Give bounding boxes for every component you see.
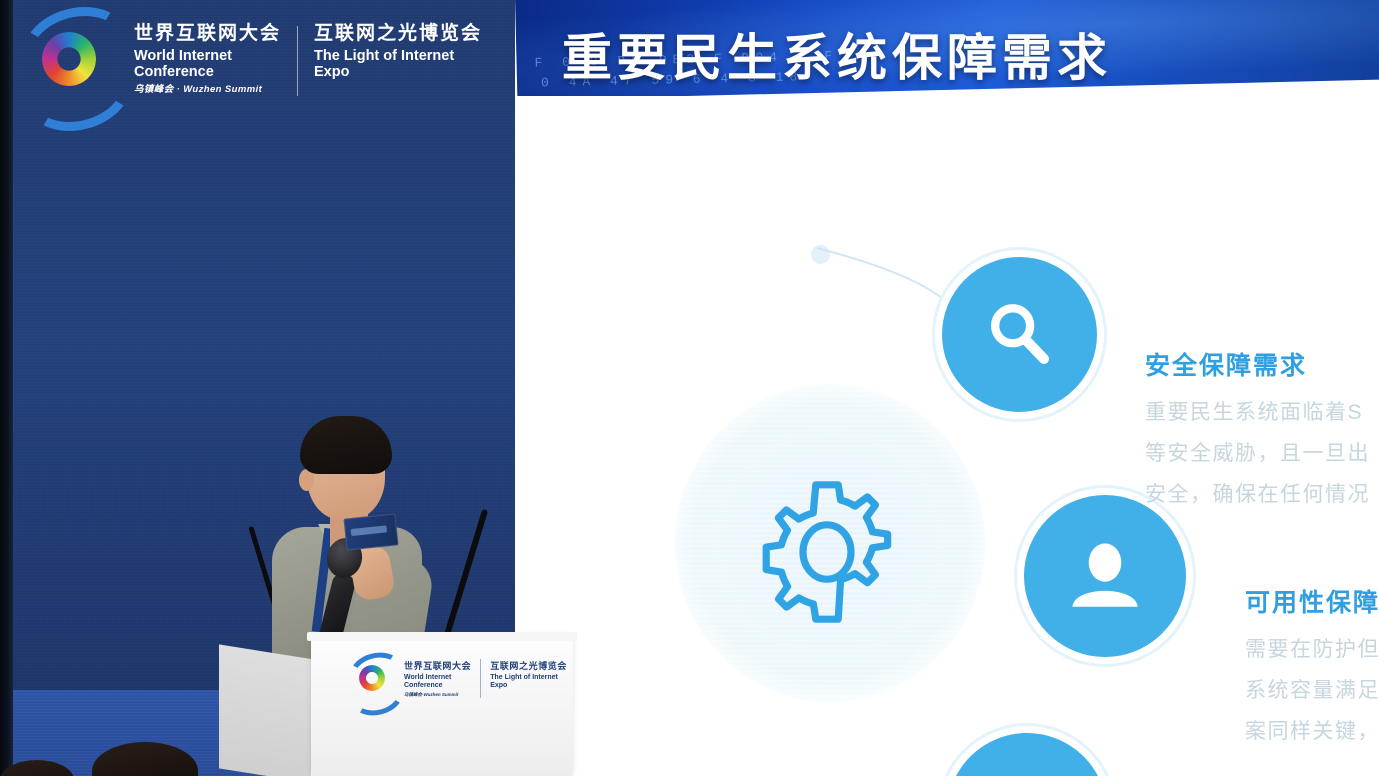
podium-logo: 世界互联网大会 World Internet Conference 乌镇峰会·W… [348,655,567,702]
backdrop-logo-primary: 世界互联网大会 World Internet Conference 乌镇峰会 ·… [134,24,281,95]
backdrop-logo-divider [297,26,298,95]
section-1-heading: 安全保障需求 [1145,346,1370,382]
wic-logo-mark-icon [20,12,116,108]
podium-logo-primary: 世界互联网大会 World Internet Conference 乌镇峰会·W… [404,659,471,699]
podium-cn-secondary: 互联网之光博览会 [490,659,567,672]
backdrop-logo: 世界互联网大会 World Internet Conference 乌镇峰会 ·… [20,12,482,108]
podium-logo-mark-icon [348,655,395,702]
section-block-2: 可用性保障 需要在防护但 系统容量满足 案同样关键， [1245,583,1379,753]
backdrop-en-secondary: The Light of Internet Expo [314,49,482,80]
section-2-body: 需要在防护但 系统容量满足 案同样关键， [1245,630,1379,753]
projection-screen: F 0 0 D0 DB2 F D04 2 F 0 4A 47 59 6 4 8 … [515,0,1379,776]
slide-title: 重要民生系统保障需求 [562,18,1112,90]
backdrop-sub-primary: 乌镇峰会 · Wuzhen Summit [134,85,281,95]
podium-en-primary: World Internet Conference [404,674,471,691]
podium-logo-secondary: 互联网之光博览会 The Light of Internet Expo [490,659,567,699]
section-block-1: 安全保障需求 重要民生系统面临着S 等安全威胁，且一旦出 安全，确保在任何情况 [1145,346,1370,516]
podium-side-panel [219,644,315,776]
microphone-logo-flag [343,513,398,550]
podium-logo-divider [480,659,481,699]
podium-sub-primary: 乌镇峰会·Wuzhen Summit [404,692,471,698]
backdrop-left-edge [0,0,13,776]
conference-stage-photo: 世界互联网大会 World Internet Conference 乌镇峰会 ·… [0,0,1379,776]
speaker-hair [300,416,392,474]
shield-icon [940,726,1114,776]
section-1-body: 重要民生系统面临着S 等安全威胁，且一旦出 安全，确保在任何情况 [1145,393,1370,516]
section-2-heading: 可用性保障 [1245,583,1379,619]
podium-en-secondary: The Light of Internet Expo [490,674,567,691]
backdrop-cn-primary: 世界互联网大会 [134,24,281,45]
slide-content-area: 安全保障需求 重要民生系统面临着S 等安全威胁，且一旦出 安全，确保在任何情况 … [515,96,1379,776]
podium-top-edge [307,632,577,641]
gear-icon [747,472,907,632]
search-icon [935,250,1104,419]
backdrop-logo-secondary: 互联网之光博览会 The Light of Internet Expo [314,24,482,80]
podium-cn-primary: 世界互联网大会 [404,659,471,672]
backdrop-en-primary: World Internet Conference [134,49,281,80]
backdrop-cn-secondary: 互联网之光博览会 [314,24,482,45]
